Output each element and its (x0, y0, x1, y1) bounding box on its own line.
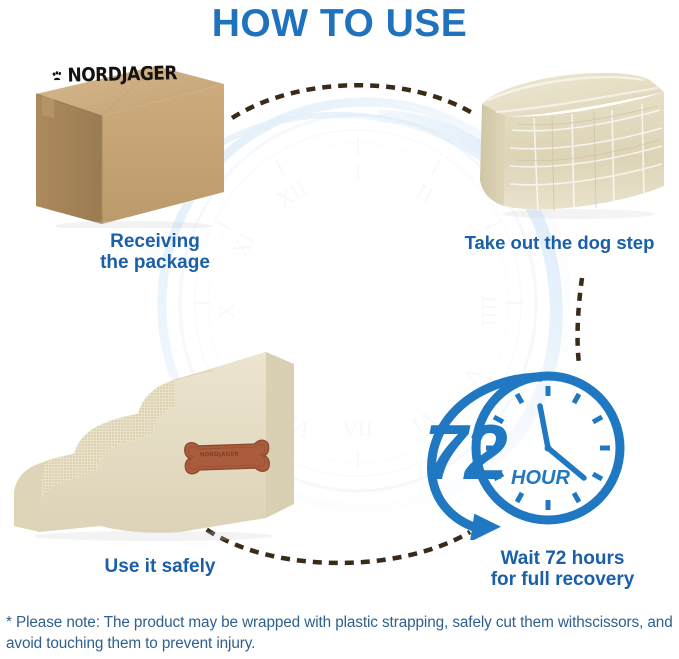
box-brand-logo: NORDJAGER (52, 61, 178, 90)
caption-use-it-safely: Use it safely (50, 556, 270, 577)
dashed-connector-top (228, 70, 478, 130)
badge-number-72: 72 (424, 407, 505, 498)
footnote-text: * Please note: The product may be wrappe… (6, 612, 674, 654)
dashed-connector-right (566, 276, 596, 368)
plastic-wrapped-product-image (468, 60, 673, 225)
svg-text:XII: XII (273, 176, 311, 212)
svg-text:II: II (412, 180, 438, 209)
bone-tag-brand-name: NORDJAGER (200, 452, 239, 459)
badge-unit-hour: HOUR (511, 467, 570, 490)
caption-receiving-the-package: Receiving the package (60, 231, 250, 274)
svg-text:VII: VII (342, 417, 373, 441)
caption-wait-72-hours: Wait 72 hours for full recovery (455, 548, 670, 591)
caption-take-out-the-dog-step: Take out the dog step (440, 233, 679, 254)
svg-text:IIII: IIII (477, 295, 501, 327)
page-title: HOW TO USE (0, 2, 679, 46)
svg-text:I: I (354, 161, 362, 185)
paw-print-logo (52, 66, 64, 86)
infographic-page: I II III IIII V VI VII VIII IX X XI XII … (0, 0, 679, 659)
box-brand-name: NORDJAGER (67, 62, 177, 87)
svg-text:X: X (215, 303, 239, 318)
